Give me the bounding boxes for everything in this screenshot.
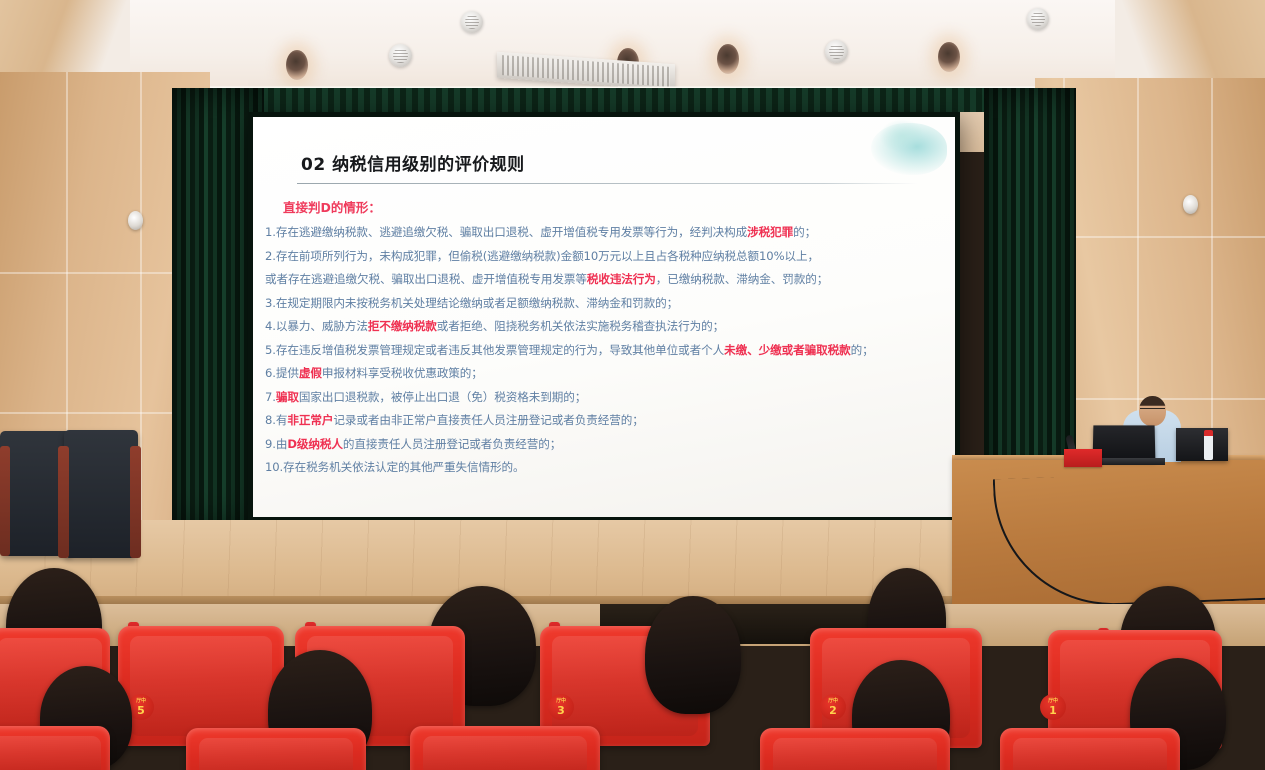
wall-speaker-icon: [128, 211, 143, 230]
ceiling-speaker-icon: [1027, 8, 1049, 30]
slide-title: 02 纳税信用级别的评价规则: [301, 150, 525, 175]
slide-text: ，已缴纳税款、滞纳金、罚款的；: [656, 272, 828, 286]
seat-badge-prefix: 厅中: [556, 699, 565, 704]
slide-text: 存在前项所列行为，未构成犯罪，但偷税(逃避缴纳税款)金额10万元以上且占各税种应…: [276, 249, 819, 263]
seat-badge-number: 5: [137, 705, 145, 716]
audience-seating: 厅中 5 厅中 3 厅中 2 厅中 1 厅中 1排: [0, 600, 1265, 770]
slide-highlight-text: D级纳税人: [287, 437, 343, 451]
seat-badge-prefix: 厅中: [136, 699, 145, 704]
slide-text: 在规定期限内未按税务机关处理结论缴纳或者足额缴纳税款、滞纳金和罚款的；: [276, 296, 678, 310]
slide-text: 提供: [276, 366, 299, 380]
secondary-monitor: [1176, 428, 1228, 461]
ceiling-speaker-icon: [825, 40, 848, 63]
seat-badge-number: 3: [557, 705, 565, 716]
slide-list-item: 4.以暴力、威胁方法拒不缴纳税款或者拒绝、阻挠税务机关依法实施税务稽查执法行为的…: [265, 315, 949, 339]
slide-text: 存在税务机关依法认定的其他严重失信情形的。: [283, 460, 524, 474]
slide-text: 或者拒绝、阻挠税务机关依法实施税务稽查执法行为的；: [437, 319, 724, 333]
ceiling-speaker-icon: [389, 44, 412, 67]
slide-list-item: 8.有非正常户记录或者由非正常户直接责任人员注册登记或者负责经营的；: [265, 409, 949, 433]
slide-text: 的直接责任人员注册登记或者负责经营的；: [343, 437, 561, 451]
slide-item-number: 10.: [265, 460, 283, 474]
slide-text: 存在逃避缴纳税款、逃避追缴欠税、骗取出口退税、虚开增值税专用发票等行为，经判决构…: [276, 225, 747, 239]
slide-text: 的；: [793, 225, 816, 239]
seat-badge-number: 1: [1049, 705, 1057, 716]
slide-list-item: 6.提供虚假申报材料享受税收优惠政策的；: [265, 362, 949, 386]
ceiling-spotlight: [938, 42, 960, 72]
water-bottle: [1204, 430, 1213, 460]
slide-item-number: 5.: [265, 343, 276, 357]
slide-item-number: 3.: [265, 296, 276, 310]
slide-highlight-text: 拒不缴纳税款: [368, 319, 437, 333]
auditorium-seat[interactable]: [0, 726, 110, 770]
stage-curtain-right: [984, 88, 1076, 488]
slide-text: 或者存在逃避追缴欠税、骗取出口退税、虚开增值税专用发票等: [265, 272, 587, 286]
slide-text: 以暴力、威胁方法: [276, 319, 368, 333]
presenter-laptop: [1093, 425, 1156, 461]
seat-number-badge: 厅中 1: [1040, 694, 1066, 720]
slide-title-divider: [297, 183, 917, 184]
side-chair-arm: [58, 446, 69, 558]
slide-list-item: 3.在规定期限内未按税务机关处理结论缴纳或者足额缴纳税款、滞纳金和罚款的；: [265, 292, 949, 316]
slide-text: 存在违反增值税发票管理规定或者违反其他发票管理规定的行为，导致其他单位或者个人: [276, 343, 724, 357]
ceiling-spotlight: [717, 44, 739, 74]
slide-list-item: 2.存在前项所列行为，未构成犯罪，但偷税(逃避缴纳税款)金额10万元以上且占各税…: [265, 245, 949, 269]
slide-highlight-text: 涉税犯罪: [747, 225, 793, 239]
slide-highlight-text: 骗取: [276, 390, 299, 404]
ceiling-spotlight: [286, 50, 308, 80]
seat-badge-prefix: 厅中: [1048, 699, 1057, 704]
slide-decoration-blob-small: [879, 119, 925, 153]
podium-table: [952, 460, 1265, 610]
auditorium-scene: 02 纳税信用级别的评价规则 直接判D的情形： 1.存在逃避缴纳税款、逃避追缴欠…: [0, 0, 1265, 770]
seat-number-badge: 厅中 3: [548, 694, 574, 720]
slide-subtitle: 直接判D的情形：: [283, 197, 381, 216]
slide-highlight-text: 虚假: [299, 366, 322, 380]
seat-number-badge: 厅中 2: [820, 694, 846, 720]
slide-highlight-text: 非正常户: [287, 413, 333, 427]
slide-item-number: 4.: [265, 319, 276, 333]
slide-item-number: 9.: [265, 437, 276, 451]
seat-badge-prefix: 厅中: [828, 699, 837, 704]
auditorium-seat[interactable]: [1000, 728, 1180, 770]
slide-list-item: 7.骗取国家出口退税款，被停止出口退（免）税资格未到期的；: [265, 386, 949, 410]
slide-text: 由: [276, 437, 288, 451]
slide-text: 的；: [851, 343, 874, 357]
audience-head: [645, 596, 741, 714]
slide-item-number: 2.: [265, 249, 276, 263]
wall-speaker-icon: [1183, 195, 1198, 214]
slide-highlight-text: 税收违法行为: [587, 272, 656, 286]
presenter-nameplate: [1064, 449, 1102, 467]
slide-list-item: 10.存在税务机关依法认定的其他严重失信情形的。: [265, 456, 949, 480]
slide-text: 记录或者由非正常户直接责任人员注册登记或者负责经营的；: [333, 413, 643, 427]
auditorium-seat[interactable]: [186, 728, 366, 770]
slide-surface: 02 纳税信用级别的评价规则 直接判D的情形： 1.存在逃避缴纳税款、逃避追缴欠…: [253, 117, 955, 517]
slide-text: 有: [276, 413, 288, 427]
slide-list-item: 9.由D级纳税人的直接责任人员注册登记或者负责经营的；: [265, 433, 949, 457]
auditorium-seat[interactable]: [760, 728, 950, 770]
slide-body-list: 1.存在逃避缴纳税款、逃避追缴欠税、骗取出口退税、虚开增值税专用发票等行为，经判…: [265, 221, 949, 480]
slide-item-number: 7.: [265, 390, 276, 404]
slide-item-number: 8.: [265, 413, 276, 427]
curtain-valance: [172, 88, 1076, 112]
side-chair-arm: [0, 446, 10, 556]
projection-screen: 02 纳税信用级别的评价规则 直接判D的情形： 1.存在逃避缴纳税款、逃避追缴欠…: [248, 112, 960, 522]
slide-item-number: 6.: [265, 366, 276, 380]
side-chair: [64, 430, 138, 558]
slide-text: 申报材料享受税收优惠政策的；: [322, 366, 483, 380]
slide-list-item: 5.存在违反增值税发票管理规定或者违反其他发票管理规定的行为，导致其他单位或者个…: [265, 339, 949, 363]
presenter-glasses-icon: [1140, 408, 1165, 414]
slide-highlight-text: 未缴、少缴或者骗取税款: [724, 343, 850, 357]
slide-text: 国家出口退税款，被停止出口退（免）税资格未到期的；: [299, 390, 586, 404]
auditorium-seat[interactable]: [410, 726, 600, 770]
ceiling-speaker-icon: [461, 11, 483, 33]
seat-badge-number: 2: [829, 705, 837, 716]
slide-item-number: 1.: [265, 225, 276, 239]
slide-list-item: 1.存在逃避缴纳税款、逃避追缴欠税、骗取出口退税、虚开增值税专用发票等行为，经判…: [265, 221, 949, 245]
side-chair-arm: [130, 446, 141, 558]
slide-list-item: 或者存在逃避追缴欠税、骗取出口退税、虚开增值税专用发票等税收违法行为，已缴纳税款…: [265, 268, 949, 292]
